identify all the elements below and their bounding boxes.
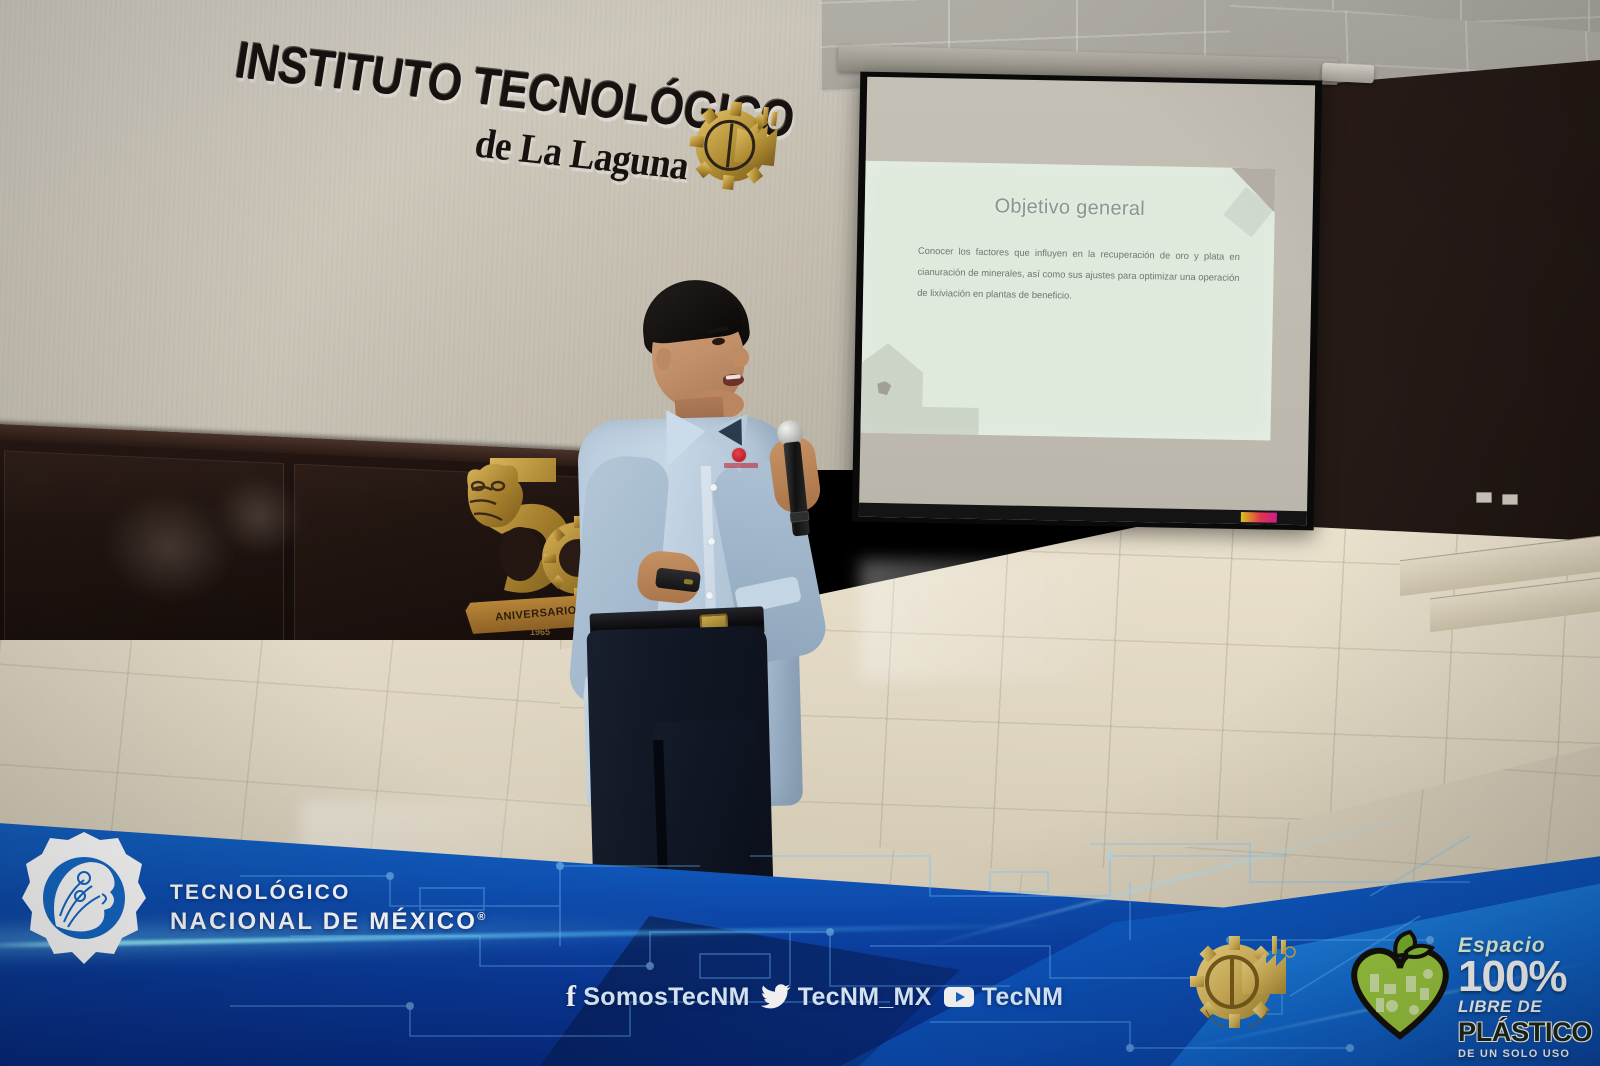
presenter-hair-front: [641, 278, 743, 345]
presenter-nose: [733, 348, 749, 367]
microphone-band: [790, 511, 810, 523]
presenter: [560, 270, 860, 910]
slide-title: Objetivo general: [865, 193, 1275, 224]
gear-emblem-icon: [685, 83, 788, 202]
screen-bottom-bar: [859, 503, 1307, 526]
shirt-chest-logo-icon: [732, 448, 746, 462]
shirt-button-1: [710, 484, 717, 491]
shirt-button-3: [706, 592, 713, 599]
anniversary-year: 1965: [530, 627, 550, 637]
hivis-cuff-right: [670, 893, 757, 918]
slide-body-text: Conocer los factores que influyen en la …: [917, 240, 1240, 310]
light-switch-2[interactable]: [1502, 494, 1518, 505]
presentation-photo-scene: ANIVERSARIO 1965 INSTITUTO TECNOLÓGICO d…: [0, 0, 1600, 1066]
screen-surface: Objetivo general Conocer los factores qu…: [859, 77, 1315, 526]
projection-screen: Objetivo general Conocer los factores qu…: [852, 72, 1323, 531]
shirt-button-2: [708, 538, 715, 545]
screen-color-tab: [1241, 512, 1277, 523]
light-switch-1[interactable]: [1476, 492, 1492, 503]
presenter-ear: [656, 348, 671, 370]
presenter-mouth: [723, 373, 745, 387]
presenter-shoe-left: [596, 896, 662, 918]
presentation-slide: Objetivo general Conocer los factores qu…: [860, 161, 1275, 441]
projector-device: [1322, 63, 1375, 84]
shirt-chest-logo-text: [724, 463, 758, 468]
